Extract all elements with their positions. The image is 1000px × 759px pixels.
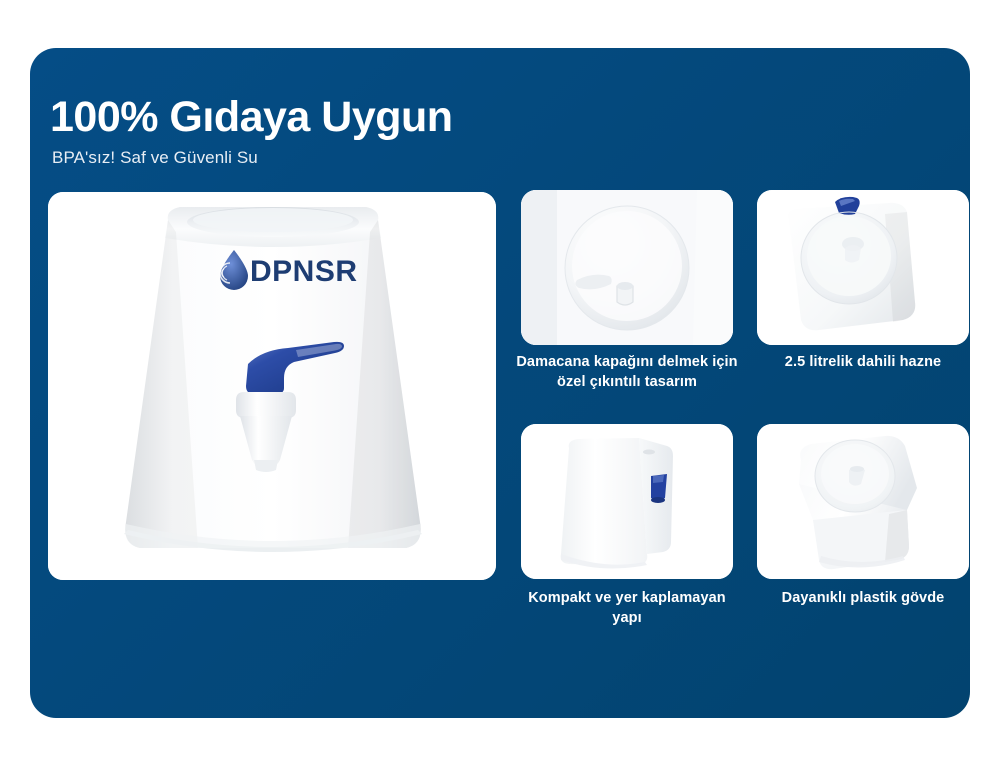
feature-card-compact-design (521, 424, 733, 579)
brand-logo-text: DPNSR (250, 255, 358, 288)
feature-caption-compact-design: Kompakt ve yer kaplamayan yapı (515, 588, 739, 628)
feature-image-piercing-spike (521, 190, 733, 345)
main-product-image: DPNSR (48, 192, 496, 580)
infographic-page: 100% Gıdaya Uygun BPA'sız! Saf ve Güvenl… (0, 0, 1000, 759)
page-subtitle: BPA'sız! Saf ve Güvenli Su (52, 148, 453, 168)
main-product-card: DPNSR (48, 192, 496, 580)
feature-card-durable-body (757, 424, 969, 579)
page-title: 100% Gıdaya Uygun (50, 96, 453, 139)
feature-image-internal-tank (757, 190, 969, 345)
feature-image-compact-design (521, 424, 733, 579)
feature-caption-piercing-spike: Damacana kapağını delmek için özel çıkın… (515, 352, 739, 392)
feature-image-durable-body (757, 424, 969, 579)
feature-caption-internal-tank: 2.5 litrelik dahili hazne (751, 352, 975, 372)
feature-card-piercing-spike (521, 190, 733, 345)
feature-caption-durable-body: Dayanıklı plastik gövde (751, 588, 975, 608)
feature-card-internal-tank (757, 190, 969, 345)
header: 100% Gıdaya Uygun BPA'sız! Saf ve Güvenl… (50, 96, 453, 168)
